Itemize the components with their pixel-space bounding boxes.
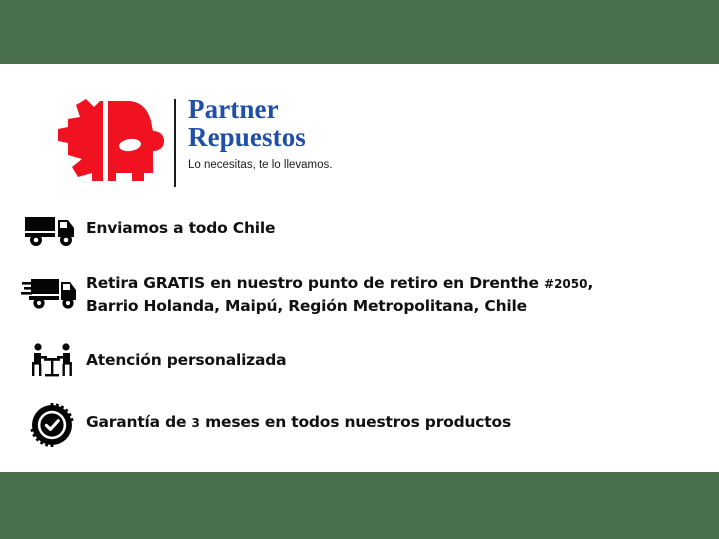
feature-item-attention: Atención personalizada [18, 338, 708, 388]
feature-label-shipping: Enviamos a todo Chile [86, 208, 708, 239]
brand-logo: Partner Repuestos Lo necesitas, te lo ll… [56, 95, 476, 195]
promo-banner: Partner Repuestos Lo necesitas, te lo ll… [0, 0, 719, 539]
guarantee-badge-check-icon [18, 400, 86, 450]
feature-label-warranty: Garantía de 3 meses en todos nuestros pr… [86, 400, 708, 434]
feature-label-pickup: Retira GRATIS en nuestro punto de retiro… [86, 270, 708, 317]
people-at-table-icon [18, 338, 86, 386]
pickup-text-line-2: Barrio Holanda, Maipú, Región Metropolit… [86, 297, 527, 315]
fast-truck-icon [18, 270, 86, 316]
pickup-street-number: #2050 [544, 277, 587, 291]
brand-wordmark: Partner Repuestos Lo necesitas, te lo ll… [188, 95, 488, 172]
gear-car-logo-icon [56, 95, 168, 187]
feature-list: Enviamos a todo Chile [18, 208, 708, 462]
feature-label-attention: Atención personalizada [86, 338, 708, 371]
brand-name-line-2: Repuestos [188, 123, 488, 151]
pickup-text-part-2: , [587, 274, 593, 292]
brand-name-line-1: Partner [188, 95, 488, 123]
warranty-text-part-1: Garantía de [86, 413, 192, 431]
feature-item-shipping: Enviamos a todo Chile [18, 208, 708, 258]
logo-divider [174, 99, 176, 187]
warranty-text-part-2: meses en todos nuestros productos [200, 413, 511, 431]
feature-item-pickup: Retira GRATIS en nuestro punto de retiro… [18, 270, 708, 326]
warranty-months-number: 3 [192, 416, 200, 430]
brand-tagline: Lo necesitas, te lo llevamos. [188, 159, 488, 172]
content-panel: Partner Repuestos Lo necesitas, te lo ll… [0, 64, 719, 472]
feature-item-warranty: Garantía de 3 meses en todos nuestros pr… [18, 400, 708, 450]
pickup-text-part-1: Retira GRATIS en nuestro punto de retiro… [86, 274, 544, 292]
delivery-truck-icon [18, 208, 86, 254]
